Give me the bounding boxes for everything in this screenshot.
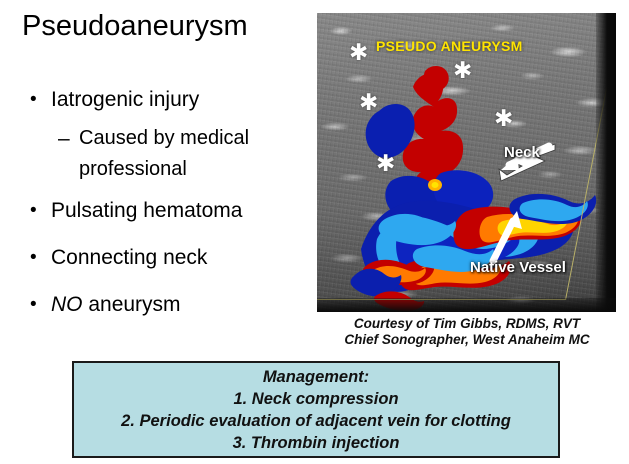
bullet-marker-dash: – <box>58 125 79 152</box>
ultrasound-image: ✱ ✱ ✱ ✱ ✱ PSEUDO ANEURYSM Neck Native Ve… <box>317 13 616 312</box>
native-vessel-label: Native Vessel <box>470 259 566 276</box>
management-heading: Management: <box>74 366 558 388</box>
page-title: Pseudoaneurysm <box>22 8 248 44</box>
asterisk-marker-4: ✱ <box>494 108 513 131</box>
bullet-item-caused-by-medical: – Caused by medical <box>16 125 308 152</box>
bullet-marker: • <box>30 244 51 271</box>
doppler-aliasing-core <box>432 182 439 188</box>
management-box: Management: 1. Neck compression 2. Perio… <box>72 361 560 458</box>
image-right-dark-band <box>596 13 616 312</box>
bullet-label-rest: aneurysm <box>83 293 181 316</box>
asterisk-marker-5: ✱ <box>376 153 395 176</box>
courtesy-line-1: Courtesy of Tim Gibbs, RDMS, RVT <box>317 316 617 332</box>
management-item-3: 3. Thrombin injection <box>74 432 558 454</box>
bullet-item-pulsating-hematoma: • Pulsating hematoma <box>16 197 308 224</box>
bullet-label: NO aneurysm <box>51 291 308 318</box>
bullet-label: Connecting neck <box>51 244 308 271</box>
asterisk-marker-2: ✱ <box>453 60 472 83</box>
doppler-red-top-lobe <box>424 66 449 91</box>
courtesy-caption: Courtesy of Tim Gibbs, RDMS, RVT Chief S… <box>317 316 617 348</box>
bullet-label: Caused by medical <box>79 125 308 152</box>
bullet-label: professional <box>79 156 308 183</box>
bullet-label: Iatrogenic injury <box>51 86 308 113</box>
slide-canvas: Pseudoaneurysm • Iatrogenic injury – Cau… <box>0 0 629 464</box>
bullet-item-connecting-neck: • Connecting neck <box>16 244 308 271</box>
bullet-marker: • <box>30 197 51 224</box>
bullet-marker: • <box>30 86 51 113</box>
bullet-list: • Iatrogenic injury – Caused by medical … <box>16 86 308 330</box>
bullet-label: Pulsating hematoma <box>51 197 308 224</box>
doppler-native-vessel-mosaic <box>351 194 597 311</box>
bullet-marker: • <box>30 291 51 318</box>
image-bottom-dark-band <box>317 298 616 312</box>
bullet-item-iatrogenic-injury: • Iatrogenic injury <box>16 86 308 113</box>
asterisk-marker-1: ✱ <box>349 42 368 65</box>
neck-label: Neck <box>504 144 540 161</box>
bullet-emphasis-word: NO <box>51 293 83 316</box>
management-item-1: 1. Neck compression <box>74 388 558 410</box>
courtesy-line-2: Chief Sonographer, West Anaheim MC <box>317 332 617 348</box>
management-item-2: 2. Periodic evaluation of adjacent vein … <box>74 410 558 432</box>
bullet-item-no-aneurysm: • NO aneurysm <box>16 291 308 318</box>
pseudo-aneurysm-label: PSEUDO ANEURYSM <box>376 38 523 54</box>
asterisk-marker-3: ✱ <box>359 92 378 115</box>
bullet-item-professional-continuation: professional <box>16 156 308 183</box>
ultrasound-figure: ✱ ✱ ✱ ✱ ✱ PSEUDO ANEURYSM Neck Native Ve… <box>317 13 616 312</box>
